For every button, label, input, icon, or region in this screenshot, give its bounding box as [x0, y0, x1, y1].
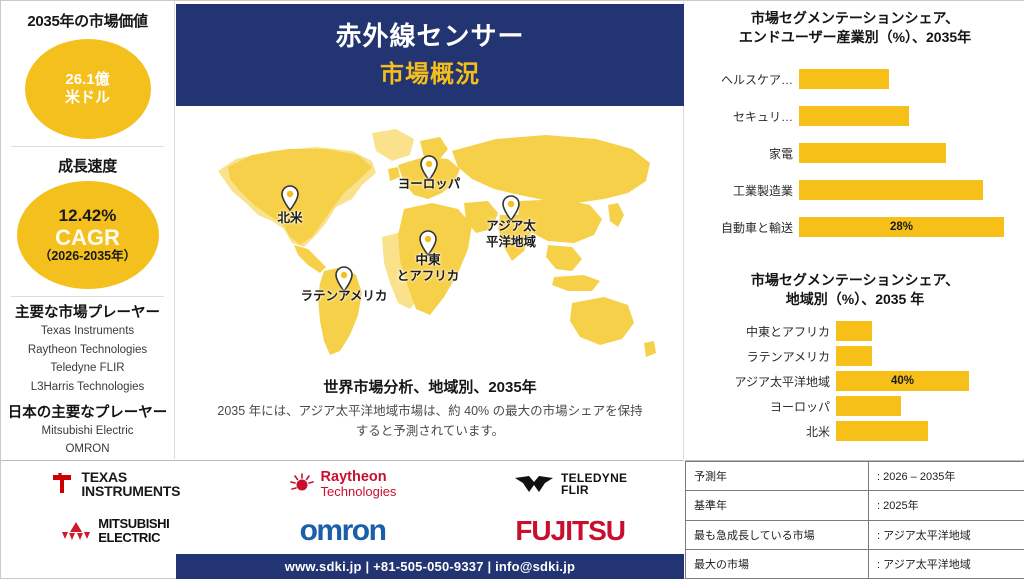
bar-label: 自動車と輸送 [685, 219, 799, 236]
logo-label-line1: Raytheon [321, 470, 397, 485]
list-item: Texas Instruments [1, 322, 174, 341]
table-row: 最も急成長している市場 : アジア太平洋地域 [686, 520, 1024, 549]
logo-label-line2: ELECTRIC [98, 531, 169, 545]
market-value-card: 2035年の市場価値 26.1億 米ドル [1, 1, 174, 139]
table-cell-key: 予測年 [686, 462, 869, 491]
title-banner: 赤外線センサー 市場概況 [176, 4, 684, 106]
growth-rate-card: 成長速度 12.42% CAGR （2026-2035年） [1, 147, 174, 289]
jp-players-heading: 日本の主要なプレーヤー [1, 401, 174, 422]
summary-table: 予測年 : 2026 – 2035年 基準年 : 2025年 最も急成長している… [685, 460, 1024, 579]
world-map: 北米 ラテンアメリカ ヨーロッパ 中東 とアフリカ アジア太 平洋地域 [176, 111, 684, 363]
bar-row: 中東とアフリカ [685, 319, 1024, 344]
footer-contact-text[interactable]: www.sdki.jp | +81-505-050-9337 | info@sd… [285, 559, 575, 574]
table-cell-value: : アジア太平洋地域 [869, 520, 1024, 549]
page-title: 赤外線センサー [335, 20, 524, 54]
bar-row: セキュリ… [685, 98, 1024, 135]
chart-end-user-industry: 市場セグメンテーションシェア、 エンドユーザー産業別（%）、2035年 ヘルスケ… [685, 9, 1024, 246]
map-label-north-america: 北米 [250, 211, 330, 227]
logo-fujitsu: FUJITSU [515, 515, 625, 547]
logo-label-line1: MITSUBISHI [98, 517, 169, 531]
table-cell-key: 最大の市場 [686, 549, 869, 578]
map-label-latin-america: ラテンアメリカ [284, 289, 404, 305]
logo-omron: omron [300, 514, 386, 548]
texas-instruments-icon [49, 472, 75, 496]
logo-label-line1: omron [300, 514, 386, 548]
bar[interactable]: 28% [799, 217, 1004, 237]
logo-strip: TEXAS INSTRUMENTS Raytheon Technologies [1, 460, 684, 554]
list-item: OMRON [1, 440, 174, 459]
table-row: 基準年 : 2025年 [686, 491, 1024, 520]
bar[interactable] [836, 421, 928, 441]
chart-title: 市場セグメンテーションシェア、 地域別（%）、2035 年 [693, 271, 1017, 309]
bar[interactable] [836, 346, 872, 366]
bar-row: ラテンアメリカ [685, 344, 1024, 369]
bar-value: 28% [890, 221, 913, 233]
center-panel: 赤外線センサー 市場概況 [176, 1, 684, 459]
chart-bars: 中東とアフリカ ラテンアメリカ アジア太平洋地域 40% [685, 319, 1024, 444]
bar-value: 40% [891, 375, 914, 387]
sidebar: 2035年の市場価値 26.1億 米ドル 成長速度 12.42% CAGR （2… [1, 1, 175, 459]
bar[interactable] [799, 143, 946, 163]
table-row: 最大の市場 : アジア太平洋地域 [686, 549, 1024, 578]
logo-raytheon: Raytheon Technologies [289, 470, 397, 499]
page-subtitle: 市場概況 [380, 59, 480, 90]
chart-bars: ヘルスケア… セキュリ… 家電 [685, 61, 1024, 246]
logo-label-line2: Technologies [321, 485, 397, 499]
bar-label: アジア太平洋地域 [685, 373, 836, 390]
raytheon-icon [289, 472, 315, 496]
market-value-currency: 米ドル [65, 89, 110, 107]
logo-label-line2: FLIR [561, 484, 627, 496]
table-cell-key: 最も急成長している市場 [686, 520, 869, 549]
chart-title: 市場セグメンテーションシェア、 エンドユーザー産業別（%）、2035年 [695, 9, 1015, 47]
bar[interactable] [799, 69, 889, 89]
list-item: Raytheon Technologies [1, 341, 174, 360]
map-label-asia-pacific: アジア太 平洋地域 [461, 219, 561, 250]
mitsubishi-icon [60, 519, 92, 543]
bar[interactable] [836, 396, 901, 416]
list-item: Teledyne FLIR [1, 359, 174, 378]
bar-row: アジア太平洋地域 40% [685, 369, 1024, 394]
cagr-value: 12.42% [59, 206, 117, 226]
logo-label-line1: TEXAS [81, 470, 180, 485]
bar-label: 工業製造業 [685, 182, 799, 199]
bar[interactable] [836, 321, 872, 341]
bar-row: 家電 [685, 135, 1024, 172]
logo-label-line2: INSTRUMENTS [81, 484, 180, 499]
map-pin-asia-pacific[interactable] [501, 195, 521, 221]
bar[interactable] [799, 180, 983, 200]
market-value-title: 2035年の市場価値 [1, 10, 174, 31]
bar-row: ヨーロッパ [685, 394, 1024, 419]
logo-mitsubishi-electric: MITSUBISHI ELECTRIC [60, 517, 169, 544]
key-players-card: 主要な市場プレーヤー Texas Instruments Raytheon Te… [1, 297, 174, 477]
teledyne-flir-icon [513, 473, 555, 495]
map-label-middle-east-africa: 中東 とアフリカ [368, 253, 488, 284]
map-caption-body: 2035 年には、アジア太平洋地域市場は、約 40% の最大の市場シェアを保持す… [212, 401, 648, 441]
bar-label: 中東とアフリカ [685, 323, 836, 340]
logo-label-line1: FUJITSU [515, 515, 625, 547]
bar-label: ヨーロッパ [685, 398, 836, 415]
map-landmass [228, 135, 656, 357]
map-label-europe: ヨーロッパ [379, 177, 479, 193]
growth-rate-title: 成長速度 [1, 155, 174, 176]
table-cell-key: 基準年 [686, 491, 869, 520]
bar-row: 工業製造業 [685, 172, 1024, 209]
table-cell-value: : アジア太平洋地域 [869, 549, 1024, 578]
table-row: 予測年 : 2026 – 2035年 [686, 462, 1024, 491]
bar-label: ラテンアメリカ [685, 348, 836, 365]
bar[interactable] [799, 106, 909, 126]
summary-table-grid: 予測年 : 2026 – 2035年 基準年 : 2025年 最も急成長している… [685, 461, 1024, 579]
bar-label: セキュリ… [685, 108, 799, 125]
bar-row: 北米 [685, 419, 1024, 444]
cagr-label: CAGR [55, 226, 120, 249]
map-pin-north-america[interactable] [280, 185, 300, 211]
bar-label: 北米 [685, 423, 836, 440]
bar-label: ヘルスケア… [685, 71, 799, 88]
table-cell-value: : 2026 – 2035年 [869, 462, 1024, 491]
list-item: Mitsubishi Electric [1, 422, 174, 441]
bar-row: ヘルスケア… [685, 61, 1024, 98]
list-item: L3Harris Technologies [1, 378, 174, 397]
market-value-amount: 26.1億 [65, 71, 109, 89]
market-value-ellipse: 26.1億 米ドル [25, 39, 151, 139]
logo-texas-instruments: TEXAS INSTRUMENTS [49, 470, 180, 499]
bar-row: 自動車と輸送 28% [685, 209, 1024, 246]
cagr-period: （2026-2035年） [39, 249, 136, 264]
infographic-root: 2035年の市場価値 26.1億 米ドル 成長速度 12.42% CAGR （2… [0, 0, 1024, 579]
cagr-ellipse: 12.42% CAGR （2026-2035年） [17, 181, 159, 289]
logo-teledyne-flir: TELEDYNE FLIR [513, 472, 627, 497]
bar-label: 家電 [685, 145, 799, 162]
key-players-heading: 主要な市場プレーヤー [1, 301, 174, 322]
map-caption-title: 世界市場分析、地域別、2035年 [176, 376, 684, 397]
charts-panel: 市場セグメンテーションシェア、 エンドユーザー産業別（%）、2035年 ヘルスケ… [685, 1, 1024, 459]
table-cell-value: : 2025年 [869, 491, 1024, 520]
chart-region-share: 市場セグメンテーションシェア、 地域別（%）、2035 年 中東とアフリカ ラテ… [685, 271, 1024, 444]
footer-bar: www.sdki.jp | +81-505-050-9337 | info@sd… [176, 554, 684, 579]
bar[interactable]: 40% [836, 371, 969, 391]
